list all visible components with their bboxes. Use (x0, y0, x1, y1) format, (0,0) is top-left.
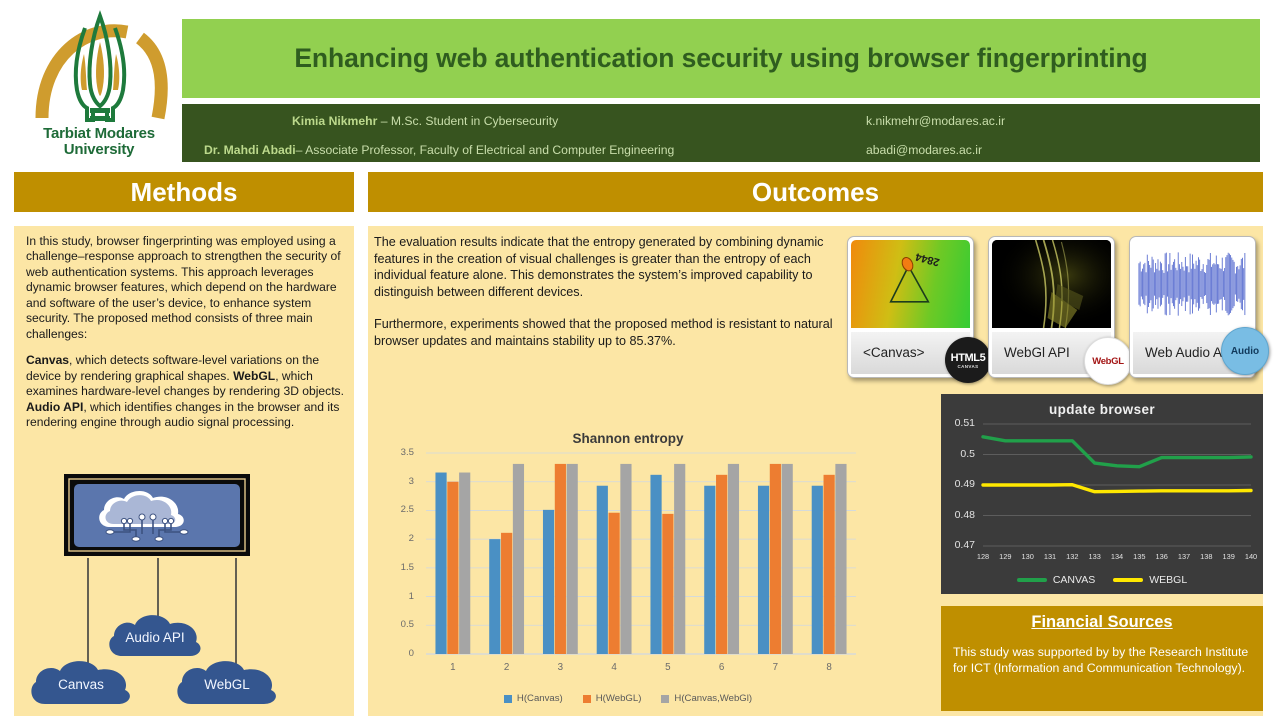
update-browser-legend-item[interactable]: CANVAS (1017, 574, 1095, 586)
outcomes-body-text: The evaluation results indicate that the… (374, 234, 844, 366)
audio-badge-icon: Audio (1221, 327, 1269, 375)
legend-label: H(Canvas) (517, 693, 563, 704)
update-browser-y-tick: 0.51 (947, 417, 975, 429)
methods-panel: In this study, browser fingerprinting wa… (14, 226, 354, 716)
demo-card-canvas[interactable]: 2844 <Canvas> HTML5 CANVAS (847, 236, 974, 378)
shannon-y-tick: 3 (390, 476, 414, 487)
diagram-canvas-label: Canvas (58, 677, 104, 692)
shannon-bar (513, 464, 524, 654)
shannon-bar (555, 464, 566, 654)
diagram-node-canvas: Canvas (31, 661, 130, 704)
update-browser-legend-item[interactable]: WEBGL (1113, 574, 1187, 586)
shannon-bar (704, 486, 715, 654)
author-1-desc: – M.Sc. Student in Cybersecurity (377, 114, 558, 128)
legend-swatch (1017, 578, 1047, 582)
update-browser-x-tick: 137 (1174, 552, 1194, 561)
diagram-node-audio: Audio API (109, 615, 200, 656)
author-1-info: Kimia Nikmehr – M.Sc. Student in Cyberse… (292, 112, 558, 130)
update-browser-x-tick: 136 (1152, 552, 1172, 561)
shannon-legend-item[interactable]: H(Canvas) (504, 693, 563, 704)
webgl-3d-object-icon (992, 240, 1111, 328)
update-browser-y-tick: 0.48 (947, 509, 975, 521)
update-browser-line (983, 485, 1251, 492)
update-browser-y-tick: 0.49 (947, 478, 975, 490)
shannon-y-tick: 0.5 (390, 619, 414, 630)
update-browser-x-tick: 128 (973, 552, 993, 561)
shannon-entropy-legend: H(Canvas)H(WebGL)H(Canvas,WebGl) (388, 693, 868, 704)
canvas-shapes-icon: 2844 (851, 240, 970, 328)
shannon-plot-area: 00.511.522.533.512345678 (388, 421, 868, 706)
audio-wave-icon (1133, 240, 1252, 328)
update-browser-plot-area: 0.510.50.490.480.47128129130131132133134… (941, 394, 1263, 594)
shannon-y-tick: 2 (390, 533, 414, 544)
update-browser-legend: CANVASWEBGL (941, 574, 1263, 586)
shannon-bar (543, 510, 554, 654)
webgl-badge-text: WebGL (1092, 356, 1124, 367)
shannon-x-tick: 6 (695, 662, 749, 673)
update-browser-x-tick: 130 (1018, 552, 1038, 561)
outcomes-paragraph-1: The evaluation results indicate that the… (374, 234, 844, 300)
audio-badge-text: Audio (1231, 346, 1259, 357)
financial-sources-box: Financial Sources This study was support… (941, 606, 1263, 711)
outcomes-panel: The evaluation results indicate that the… (368, 226, 1263, 716)
shannon-bar (459, 473, 470, 654)
author-1-email[interactable]: k.nikmehr@modares.ac.ir (866, 114, 1005, 128)
update-browser-x-tick: 139 (1219, 552, 1239, 561)
shannon-x-tick: 1 (426, 662, 480, 673)
webgl-badge-icon: WebGL (1084, 337, 1132, 385)
author-2-info: Dr. Mahdi Abadi– Associate Professor, Fa… (204, 141, 674, 159)
demo-card-audio[interactable]: Web Audio API Audio (1129, 236, 1256, 378)
poster-title-bar: Enhancing web authentication security us… (182, 19, 1260, 98)
legend-label: H(Canvas,WebGl) (674, 693, 752, 704)
page-title: Enhancing web authentication security us… (294, 43, 1147, 74)
legend-swatch (583, 695, 591, 703)
canvas-random-text: 2844 (914, 250, 941, 268)
update-browser-chart: update browser 0.510.50.490.480.47128129… (941, 394, 1263, 594)
author-row: Dr. Mahdi Abadi– Associate Professor, Fa… (182, 135, 1260, 164)
shannon-x-tick: 3 (534, 662, 588, 673)
methods-webgl-term: WebGL (233, 369, 275, 383)
shannon-bar (662, 514, 673, 654)
html5-badge-text: HTML5 (951, 352, 986, 364)
shannon-legend-item[interactable]: H(Canvas,WebGl) (661, 693, 752, 704)
update-browser-y-tick: 0.47 (947, 539, 975, 551)
shannon-bar (597, 486, 608, 654)
university-logo: Tarbiat Modares University (24, 8, 174, 168)
diagram-svg: Audio API Canvas WebGL (24, 470, 344, 710)
demo-card-webgl[interactable]: WebGl API WebGL (988, 236, 1115, 378)
shannon-bar (489, 539, 500, 654)
shannon-y-tick: 3.5 (390, 447, 414, 458)
shannon-bar (674, 464, 685, 654)
update-browser-x-tick: 134 (1107, 552, 1127, 561)
author-row: Kimia Nikmehr – M.Sc. Student in Cyberse… (182, 106, 1260, 135)
legend-label: H(WebGL) (596, 693, 642, 704)
update-browser-x-tick: 131 (1040, 552, 1060, 561)
author-2-name: Dr. Mahdi Abadi (204, 143, 296, 157)
methods-body-text: In this study, browser fingerprinting wa… (26, 234, 344, 442)
shannon-y-tick: 2.5 (390, 504, 414, 515)
methods-architecture-diagram: Audio API Canvas WebGL (24, 470, 344, 710)
shannon-bar (770, 464, 781, 654)
shannon-bar (501, 533, 512, 654)
update-browser-x-tick: 133 (1085, 552, 1105, 561)
legend-label: WEBGL (1149, 574, 1187, 586)
financial-sources-body: This study was supported by by the Resea… (953, 644, 1253, 677)
methods-paragraph-2: Canvas, which detects software-level var… (26, 353, 344, 430)
shannon-bar (728, 464, 739, 654)
shannon-bar (609, 513, 620, 654)
webgl-render-preview (992, 240, 1111, 328)
legend-swatch (661, 695, 669, 703)
update-browser-x-tick: 140 (1241, 552, 1261, 561)
financial-sources-title: Financial Sources (941, 613, 1263, 632)
shannon-y-tick: 1.5 (390, 562, 414, 573)
shannon-x-tick: 8 (802, 662, 856, 673)
diagram-webgl-label: WebGL (204, 677, 250, 692)
logo-line-2: University (24, 142, 174, 158)
legend-swatch (504, 695, 512, 703)
diagram-node-webgl: WebGL (177, 661, 276, 704)
shannon-y-tick: 1 (390, 591, 414, 602)
author-2-desc: – Associate Professor, Faculty of Electr… (296, 143, 675, 157)
diagram-audio-label: Audio API (125, 630, 184, 645)
shannon-bar (447, 482, 458, 654)
shannon-bar (812, 486, 823, 654)
shannon-bar (782, 464, 793, 654)
shannon-x-tick: 4 (587, 662, 641, 673)
shannon-entropy-chart: Shannon entropy 00.511.522.533.512345678… (388, 421, 868, 706)
logo-line-1: Tarbiat Modares (24, 126, 174, 142)
shannon-x-tick: 7 (749, 662, 803, 673)
shannon-y-tick: 0 (390, 648, 414, 659)
update-browser-x-tick: 129 (995, 552, 1015, 561)
logo-text: Tarbiat Modares University (24, 126, 174, 158)
shannon-legend-item[interactable]: H(WebGL) (583, 693, 642, 704)
shannon-bar (716, 475, 727, 654)
update-browser-line (983, 437, 1251, 467)
shannon-bar (620, 464, 631, 654)
update-browser-x-tick: 138 (1196, 552, 1216, 561)
update-browser-y-tick: 0.5 (947, 448, 975, 460)
author-2-email[interactable]: abadi@modares.ac.ir (866, 143, 982, 157)
shannon-x-tick: 2 (480, 662, 534, 673)
shannon-bar (835, 464, 846, 654)
author-1-name: Kimia Nikmehr (292, 114, 377, 128)
legend-label: CANVAS (1053, 574, 1095, 586)
audio-waveform-preview (1133, 240, 1252, 328)
outcomes-section-heading: Outcomes (368, 172, 1263, 212)
shannon-bar (567, 464, 578, 654)
canvas-render-preview: 2844 (851, 240, 970, 328)
update-browser-x-tick: 135 (1129, 552, 1149, 561)
logo-mark-icon (24, 8, 174, 128)
shannon-x-tick: 5 (641, 662, 695, 673)
shannon-bar (824, 475, 835, 654)
html5-badge-subtext: CANVAS (957, 364, 978, 369)
update-browser-x-tick: 132 (1062, 552, 1082, 561)
authors-bar: Kimia Nikmehr – M.Sc. Student in Cyberse… (182, 104, 1260, 162)
methods-audio-term: Audio API (26, 400, 83, 414)
methods-paragraph-1: In this study, browser fingerprinting wa… (26, 234, 344, 342)
shannon-bar (435, 473, 446, 654)
outcomes-paragraph-2: Furthermore, experiments showed that the… (374, 316, 844, 349)
poster-root: Tarbiat Modares University Enhancing web… (0, 0, 1280, 720)
methods-canvas-term: Canvas (26, 353, 69, 367)
legend-swatch (1113, 578, 1143, 582)
html5-badge-icon: HTML5 CANVAS (945, 337, 991, 383)
methods-section-heading: Methods (14, 172, 354, 212)
shannon-bar (758, 486, 769, 654)
shannon-bar (650, 475, 661, 654)
